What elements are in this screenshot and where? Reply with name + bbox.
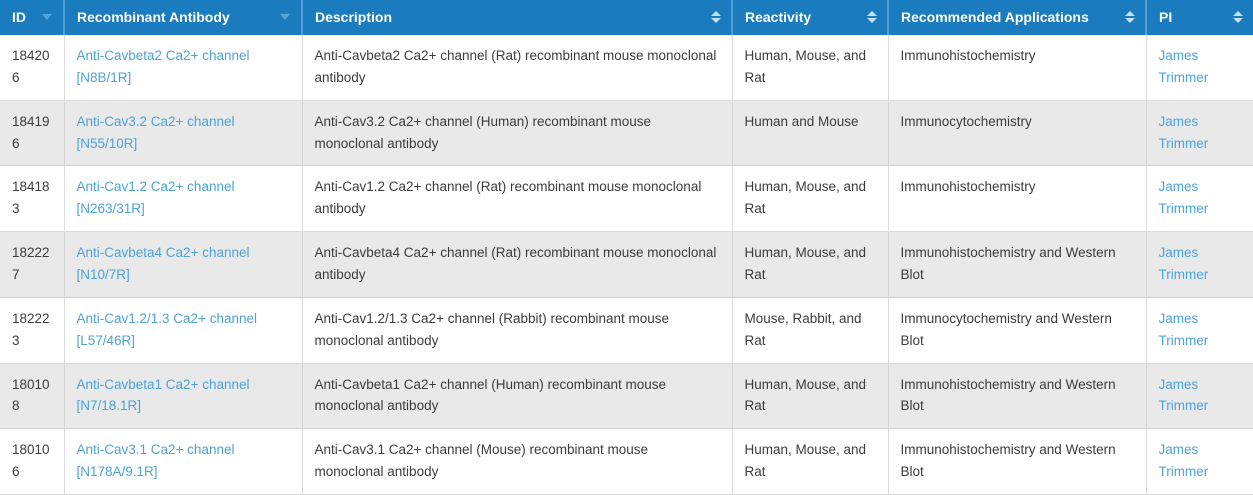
cell-id: 180106 <box>0 429 64 495</box>
column-header-pi-label: PI <box>1159 9 1172 25</box>
column-header-recombinant-antibody-label: Recombinant Antibody <box>77 9 230 25</box>
cell-applications: Immunocytochemistry and Western Blot <box>888 297 1146 363</box>
cell-pi: James Trimmer <box>1146 35 1253 100</box>
recombinant-antibody-table: ID Recombinant Antibody Description Reac… <box>0 0 1253 495</box>
cell-id: 184206 <box>0 35 64 100</box>
filter-triangle-icon[interactable] <box>42 10 53 24</box>
cell-description: Anti-Cav1.2 Ca2+ channel (Rat) recombina… <box>302 166 732 232</box>
cell-antibody: Anti-Cavbeta4 Ca2+ channel [N10/7R] <box>64 232 302 298</box>
cell-applications: Immunohistochemistry <box>888 35 1146 100</box>
filter-triangle-icon[interactable] <box>280 10 291 24</box>
cell-antibody-link[interactable]: Anti-Cav1.2/1.3 Ca2+ channel [L57/46R] <box>77 311 258 348</box>
column-header-recommended-applications[interactable]: Recommended Applications <box>888 0 1146 35</box>
cell-applications: Immunocytochemistry <box>888 100 1146 166</box>
cell-antibody: Anti-Cavbeta2 Ca2+ channel [N8B/1R] <box>64 35 302 100</box>
table-row: 180108Anti-Cavbeta1 Ca2+ channel [N7/18.… <box>0 363 1253 429</box>
cell-reactivity: Human and Mouse <box>732 100 888 166</box>
table-row: 184183Anti-Cav1.2 Ca2+ channel [N263/31R… <box>0 166 1253 232</box>
sort-updown-icon[interactable] <box>1125 10 1135 24</box>
table-row: 182227Anti-Cavbeta4 Ca2+ channel [N10/7R… <box>0 232 1253 298</box>
column-header-recombinant-antibody[interactable]: Recombinant Antibody <box>64 0 302 35</box>
cell-description: Anti-Cav3.1 Ca2+ channel (Mouse) recombi… <box>302 429 732 495</box>
table-row: 182223Anti-Cav1.2/1.3 Ca2+ channel [L57/… <box>0 297 1253 363</box>
cell-pi: James Trimmer <box>1146 363 1253 429</box>
cell-description: Anti-Cav1.2/1.3 Ca2+ channel (Rabbit) re… <box>302 297 732 363</box>
cell-reactivity: Human, Mouse, and Rat <box>732 232 888 298</box>
cell-id: 180108 <box>0 363 64 429</box>
table-header-row: ID Recombinant Antibody Description Reac… <box>0 0 1253 35</box>
sort-updown-icon[interactable] <box>867 10 877 24</box>
column-header-pi[interactable]: PI <box>1146 0 1253 35</box>
cell-pi: James Trimmer <box>1146 100 1253 166</box>
cell-antibody: Anti-Cav3.2 Ca2+ channel [N55/10R] <box>64 100 302 166</box>
cell-description: Anti-Cavbeta2 Ca2+ channel (Rat) recombi… <box>302 35 732 100</box>
cell-antibody: Anti-Cav3.1 Ca2+ channel [N178A/9.1R] <box>64 429 302 495</box>
cell-pi-link[interactable]: James Trimmer <box>1159 311 1209 348</box>
cell-pi-link[interactable]: James Trimmer <box>1159 377 1209 414</box>
cell-pi: James Trimmer <box>1146 166 1253 232</box>
cell-id: 182227 <box>0 232 64 298</box>
column-header-id-label: ID <box>12 9 26 25</box>
table-header: ID Recombinant Antibody Description Reac… <box>0 0 1253 35</box>
cell-reactivity: Mouse, Rabbit, and Rat <box>732 297 888 363</box>
cell-antibody-link[interactable]: Anti-Cavbeta2 Ca2+ channel [N8B/1R] <box>77 48 250 85</box>
cell-reactivity: Human, Mouse, and Rat <box>732 35 888 100</box>
table-row: 184206Anti-Cavbeta2 Ca2+ channel [N8B/1R… <box>0 35 1253 100</box>
cell-applications: Immunohistochemistry and Western Blot <box>888 363 1146 429</box>
column-header-description[interactable]: Description <box>302 0 732 35</box>
cell-reactivity: Human, Mouse, and Rat <box>732 429 888 495</box>
cell-antibody-link[interactable]: Anti-Cav3.1 Ca2+ channel [N178A/9.1R] <box>77 442 235 479</box>
column-header-reactivity-label: Reactivity <box>745 9 811 25</box>
column-header-reactivity[interactable]: Reactivity <box>732 0 888 35</box>
table-body: 184206Anti-Cavbeta2 Ca2+ channel [N8B/1R… <box>0 35 1253 495</box>
cell-pi-link[interactable]: James Trimmer <box>1159 442 1209 479</box>
cell-pi: James Trimmer <box>1146 429 1253 495</box>
sort-updown-icon[interactable] <box>711 10 721 24</box>
cell-antibody: Anti-Cav1.2 Ca2+ channel [N263/31R] <box>64 166 302 232</box>
cell-antibody-link[interactable]: Anti-Cavbeta1 Ca2+ channel [N7/18.1R] <box>77 377 250 414</box>
cell-pi: James Trimmer <box>1146 297 1253 363</box>
column-header-description-label: Description <box>315 9 392 25</box>
table-row: 184196Anti-Cav3.2 Ca2+ channel [N55/10R]… <box>0 100 1253 166</box>
cell-antibody: Anti-Cavbeta1 Ca2+ channel [N7/18.1R] <box>64 363 302 429</box>
cell-id: 184196 <box>0 100 64 166</box>
cell-description: Anti-Cavbeta1 Ca2+ channel (Human) recom… <box>302 363 732 429</box>
cell-antibody-link[interactable]: Anti-Cav1.2 Ca2+ channel [N263/31R] <box>77 179 235 216</box>
cell-description: Anti-Cavbeta4 Ca2+ channel (Rat) recombi… <box>302 232 732 298</box>
cell-antibody-link[interactable]: Anti-Cavbeta4 Ca2+ channel [N10/7R] <box>77 245 250 282</box>
column-header-id[interactable]: ID <box>0 0 64 35</box>
cell-applications: Immunohistochemistry <box>888 166 1146 232</box>
cell-reactivity: Human, Mouse, and Rat <box>732 363 888 429</box>
cell-antibody: Anti-Cav1.2/1.3 Ca2+ channel [L57/46R] <box>64 297 302 363</box>
cell-antibody-link[interactable]: Anti-Cav3.2 Ca2+ channel [N55/10R] <box>77 114 235 151</box>
cell-pi-link[interactable]: James Trimmer <box>1159 179 1209 216</box>
cell-id: 182223 <box>0 297 64 363</box>
cell-description: Anti-Cav3.2 Ca2+ channel (Human) recombi… <box>302 100 732 166</box>
cell-pi-link[interactable]: James Trimmer <box>1159 48 1209 85</box>
cell-applications: Immunohistochemistry and Western Blot <box>888 429 1146 495</box>
cell-pi-link[interactable]: James Trimmer <box>1159 114 1209 151</box>
cell-reactivity: Human, Mouse, and Rat <box>732 166 888 232</box>
cell-pi-link[interactable]: James Trimmer <box>1159 245 1209 282</box>
cell-pi: James Trimmer <box>1146 232 1253 298</box>
column-header-recommended-applications-label: Recommended Applications <box>901 9 1089 25</box>
sort-updown-icon[interactable] <box>1233 10 1243 24</box>
cell-applications: Immunohistochemistry and Western Blot <box>888 232 1146 298</box>
table-row: 180106Anti-Cav3.1 Ca2+ channel [N178A/9.… <box>0 429 1253 495</box>
cell-id: 184183 <box>0 166 64 232</box>
